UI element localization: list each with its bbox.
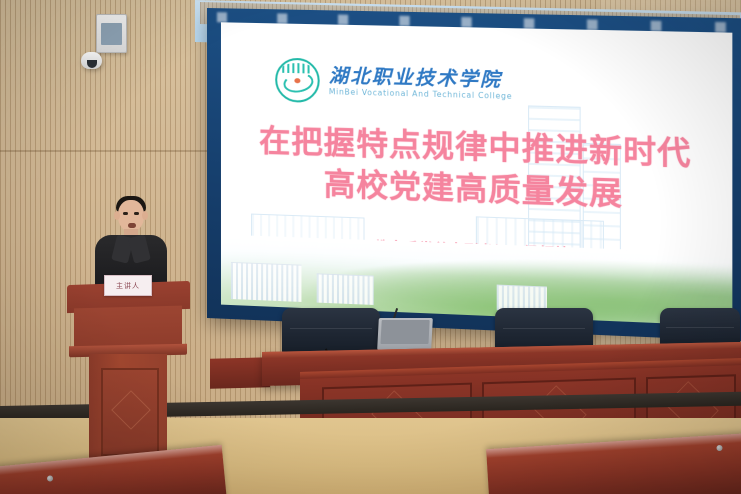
podium-diamond-inlay [111, 390, 151, 430]
speaker-eye-right [134, 212, 139, 215]
office-chair [282, 308, 380, 356]
emblem-arc-dots [282, 63, 312, 74]
college-logo-text: 湖北职业技术学院 MinBei Vocational And Technical… [329, 66, 512, 100]
podium-sign: 主讲人 [104, 275, 152, 296]
podium: 主讲人 [67, 283, 190, 463]
projection-screen-frame: 湖北职业技术学院 MinBei Vocational And Technical… [207, 8, 741, 341]
control-panel-icon [96, 14, 127, 53]
speaker-ear-left [114, 211, 120, 220]
desk-fastener [716, 445, 722, 451]
chair-headrest [503, 310, 585, 329]
projection-screen: 湖北职业技术学院 MinBei Vocational And Technical… [221, 22, 732, 326]
podium-sign-label: 主讲人 [116, 281, 140, 291]
lecture-hall-photo: 湖北职业技术学院 MinBei Vocational And Technical… [0, 0, 741, 494]
college-emblem-icon [275, 58, 320, 103]
slide-title: 在把握特点规律中推进新时代 高校党建高质量发展 [221, 120, 732, 220]
podium-front-panel [101, 368, 159, 456]
podium-body [89, 354, 167, 462]
conference-table-left [210, 357, 270, 389]
college-logo: 湖北职业技术学院 MinBei Vocational And Technical… [275, 58, 512, 108]
speaker-mouth [128, 223, 136, 228]
chair-headrest [290, 310, 372, 329]
speaker-eye-left [123, 212, 128, 215]
laptop [377, 318, 433, 350]
desk-fastener [47, 475, 54, 482]
dome-camera-icon [81, 52, 102, 69]
chair-headrest [666, 310, 733, 328]
speaker-ear-right [142, 211, 148, 220]
